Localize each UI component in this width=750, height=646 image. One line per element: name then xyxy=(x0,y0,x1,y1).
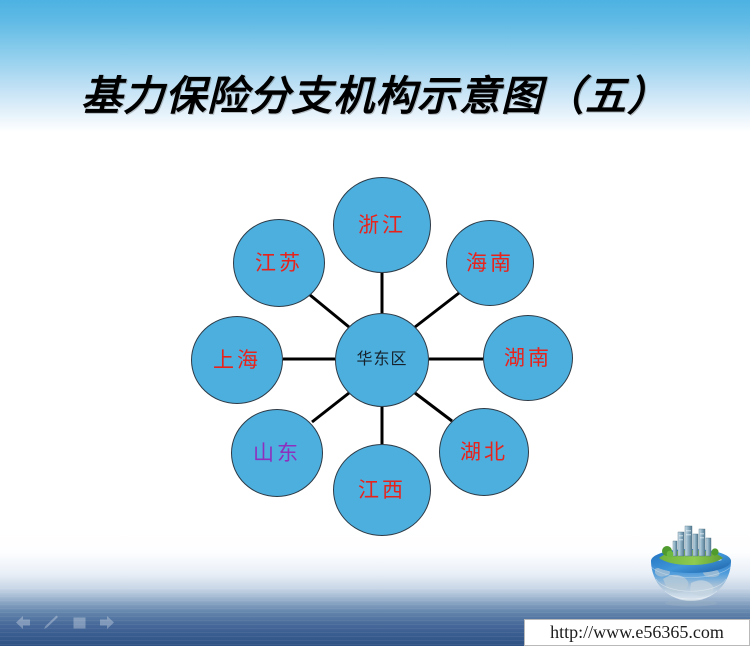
edge-center-hainan xyxy=(415,293,459,327)
node-hunan[interactable]: 湖南 xyxy=(483,315,573,401)
node-label: 江苏 xyxy=(255,253,303,274)
node-label: 华东区 xyxy=(356,352,407,368)
node-hubei[interactable]: 湖北 xyxy=(439,408,529,496)
node-label: 浙江 xyxy=(358,215,406,236)
node-shandong[interactable]: 山东 xyxy=(231,409,323,497)
node-zhejiang[interactable]: 浙江 xyxy=(333,177,431,273)
node-shanghai[interactable]: 上海 xyxy=(191,316,283,404)
node-jiangsu[interactable]: 江苏 xyxy=(233,219,325,307)
org-structure-diagram: 浙江 海南 湖南 湖北 江西 山东 上海 江苏 华东区 xyxy=(0,0,750,646)
edge-center-shandong xyxy=(312,393,349,422)
node-label: 湖北 xyxy=(460,442,508,463)
node-label: 海南 xyxy=(466,253,514,274)
node-jiangxi[interactable]: 江西 xyxy=(333,444,431,536)
edge-center-hubei xyxy=(415,393,452,421)
globe-city-logo xyxy=(645,521,737,609)
presentation-slide: 基力保险分支机构示意图（五） 浙江 海南 湖南 湖北 xyxy=(0,0,750,646)
node-center-huadong[interactable]: 华东区 xyxy=(335,313,429,407)
edge-center-jiangsu xyxy=(310,295,349,327)
node-label: 上海 xyxy=(213,350,261,371)
node-label: 山东 xyxy=(253,443,301,464)
node-label: 湖南 xyxy=(504,348,552,369)
node-hainan[interactable]: 海南 xyxy=(446,220,534,306)
website-url-text: http://www.e56365.com xyxy=(550,622,724,643)
website-url-box[interactable]: http://www.e56365.com xyxy=(524,619,750,646)
node-label: 江西 xyxy=(358,480,406,501)
